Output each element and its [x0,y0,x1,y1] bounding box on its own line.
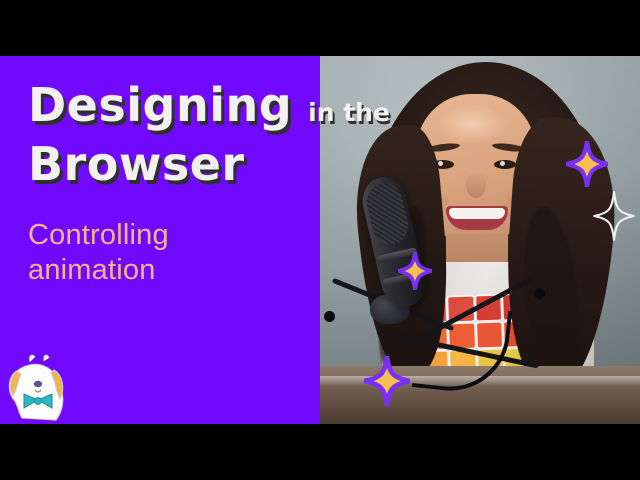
eye-highlight-right [500,161,505,166]
sparkle-purple-top-icon [566,141,608,187]
nose [466,172,486,198]
eye-highlight-left [438,161,443,166]
title-block: Designing in the Browser Controlling ani… [28,82,388,289]
video-frame: Designing in the Browser Controlling ani… [0,0,640,480]
subtitle-line-1: Controlling [28,218,388,253]
sparkle-purple-small-icon [398,252,432,290]
mic-arm-joint-1 [324,311,335,322]
subtitle-line-2: animation [28,253,388,288]
thumbnail-content: Designing in the Browser Controlling ani… [0,56,640,424]
sparkle-purple-mid-icon [364,356,410,406]
title-main: Designing [28,82,292,129]
forehead-highlight [436,104,508,144]
letterbox-top [0,0,640,56]
title-line-2: Browser [28,141,388,188]
dog-mascot-logo [4,350,76,424]
eye-right [494,160,516,169]
title-line-1: Designing in the [28,82,388,129]
title-suffix: in the [308,98,390,127]
sparkle-white-outline-icon [592,191,636,241]
letterbox-bottom [0,424,640,480]
subtitle-block: Controlling animation [28,218,388,289]
teeth [449,208,505,219]
smiling-mouth [446,206,508,230]
mic-arm-joint-2 [534,288,545,299]
